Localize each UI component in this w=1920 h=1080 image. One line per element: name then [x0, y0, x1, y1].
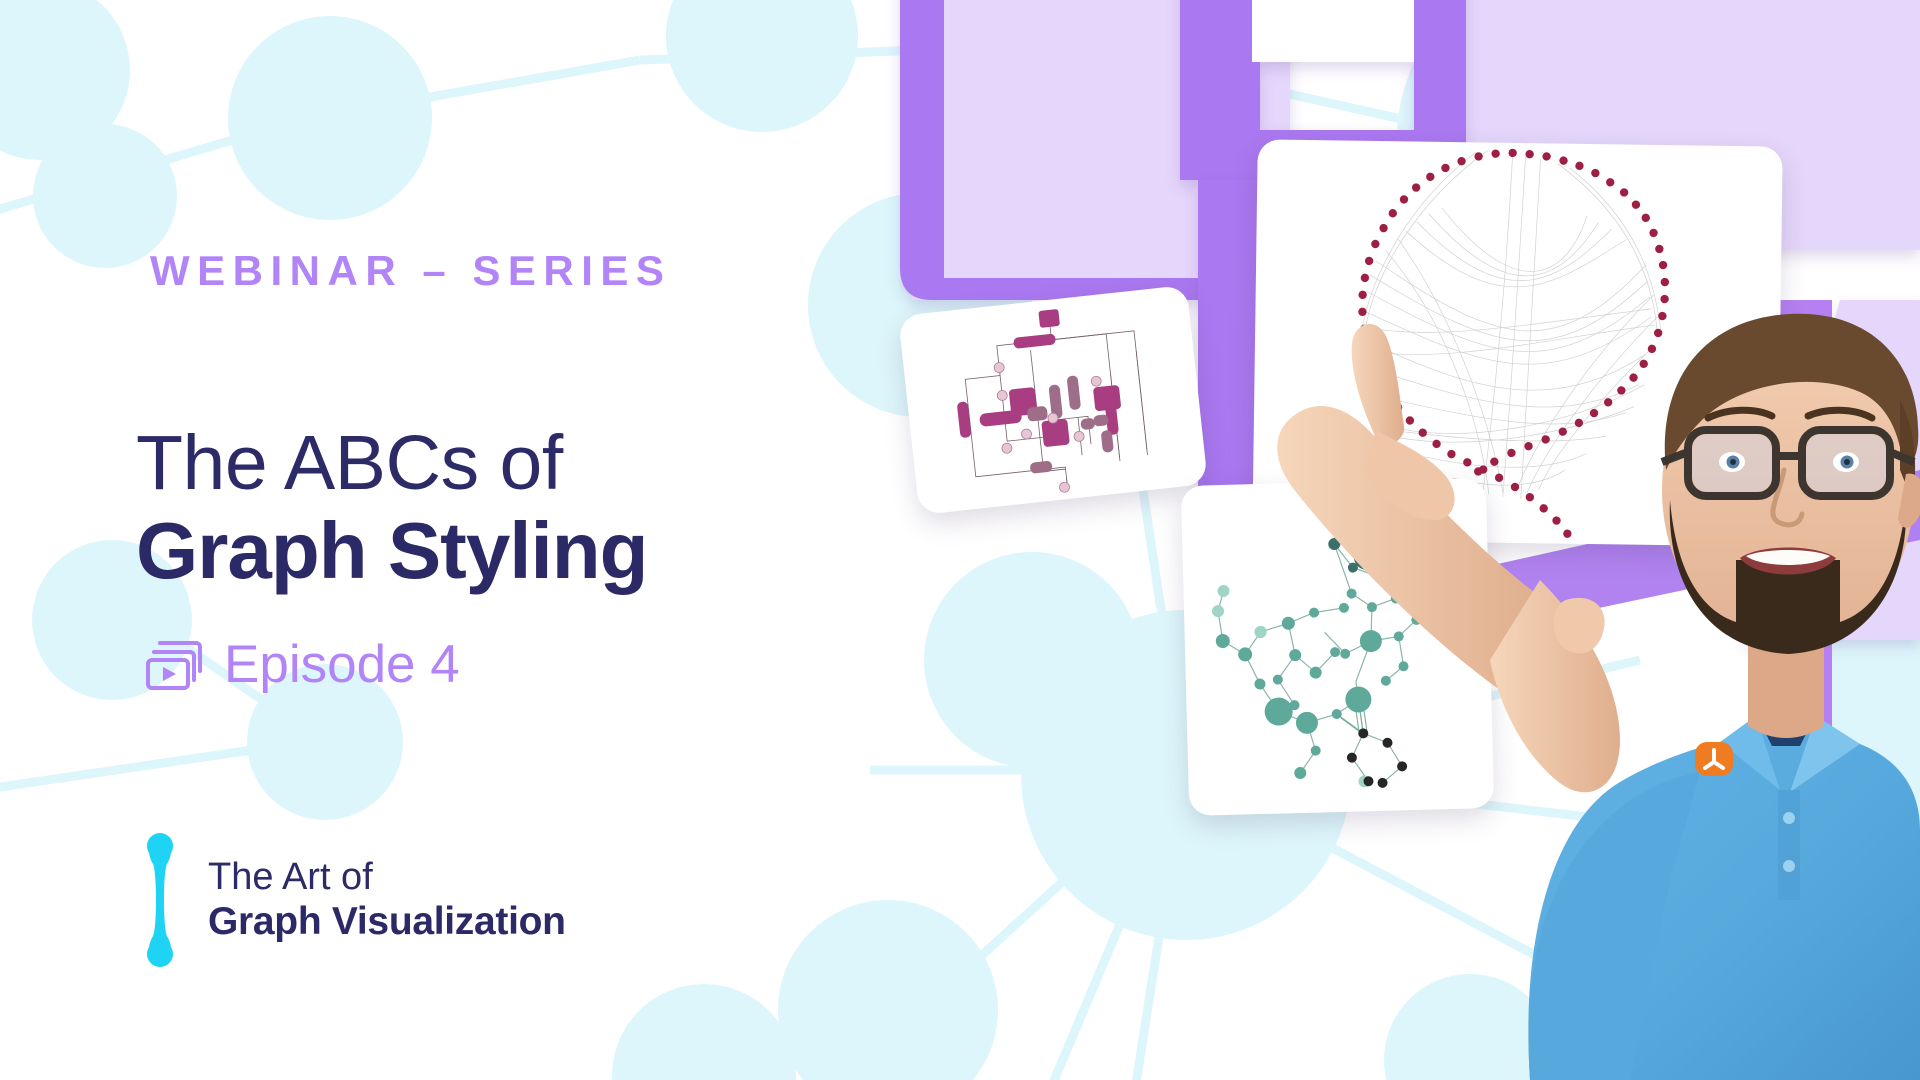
title-line-2: Graph Styling — [136, 506, 648, 596]
page-title: The ABCs of Graph Styling — [136, 425, 648, 596]
kicker-label: WEBINAR – SERIES — [150, 250, 671, 292]
brand-line-1: The Art of — [208, 855, 566, 900]
brand-logo-lockup: The Art of Graph Visualization — [140, 826, 566, 974]
graph-edge-node-mark — [140, 826, 180, 974]
presenter-photo — [1200, 0, 1920, 1080]
episode-label: Episode 4 — [224, 638, 460, 691]
company-logo-badge — [1692, 737, 1736, 781]
title-line-1: The ABCs of — [136, 425, 648, 502]
brand-line-2: Graph Visualization — [208, 899, 566, 945]
text-column: WEBINAR – SERIES The ABCs of Graph Styli… — [0, 0, 860, 1080]
brand-logo-text: The Art of Graph Visualization — [208, 855, 566, 946]
slide-canvas: WEBINAR – SERIES The ABCs of Graph Styli… — [0, 0, 1920, 1080]
video-playlist-icon — [146, 639, 204, 691]
flowchart-visual — [898, 285, 1208, 515]
flowchart-card[interactable] — [898, 285, 1208, 515]
episode-row: Episode 4 — [146, 638, 460, 691]
